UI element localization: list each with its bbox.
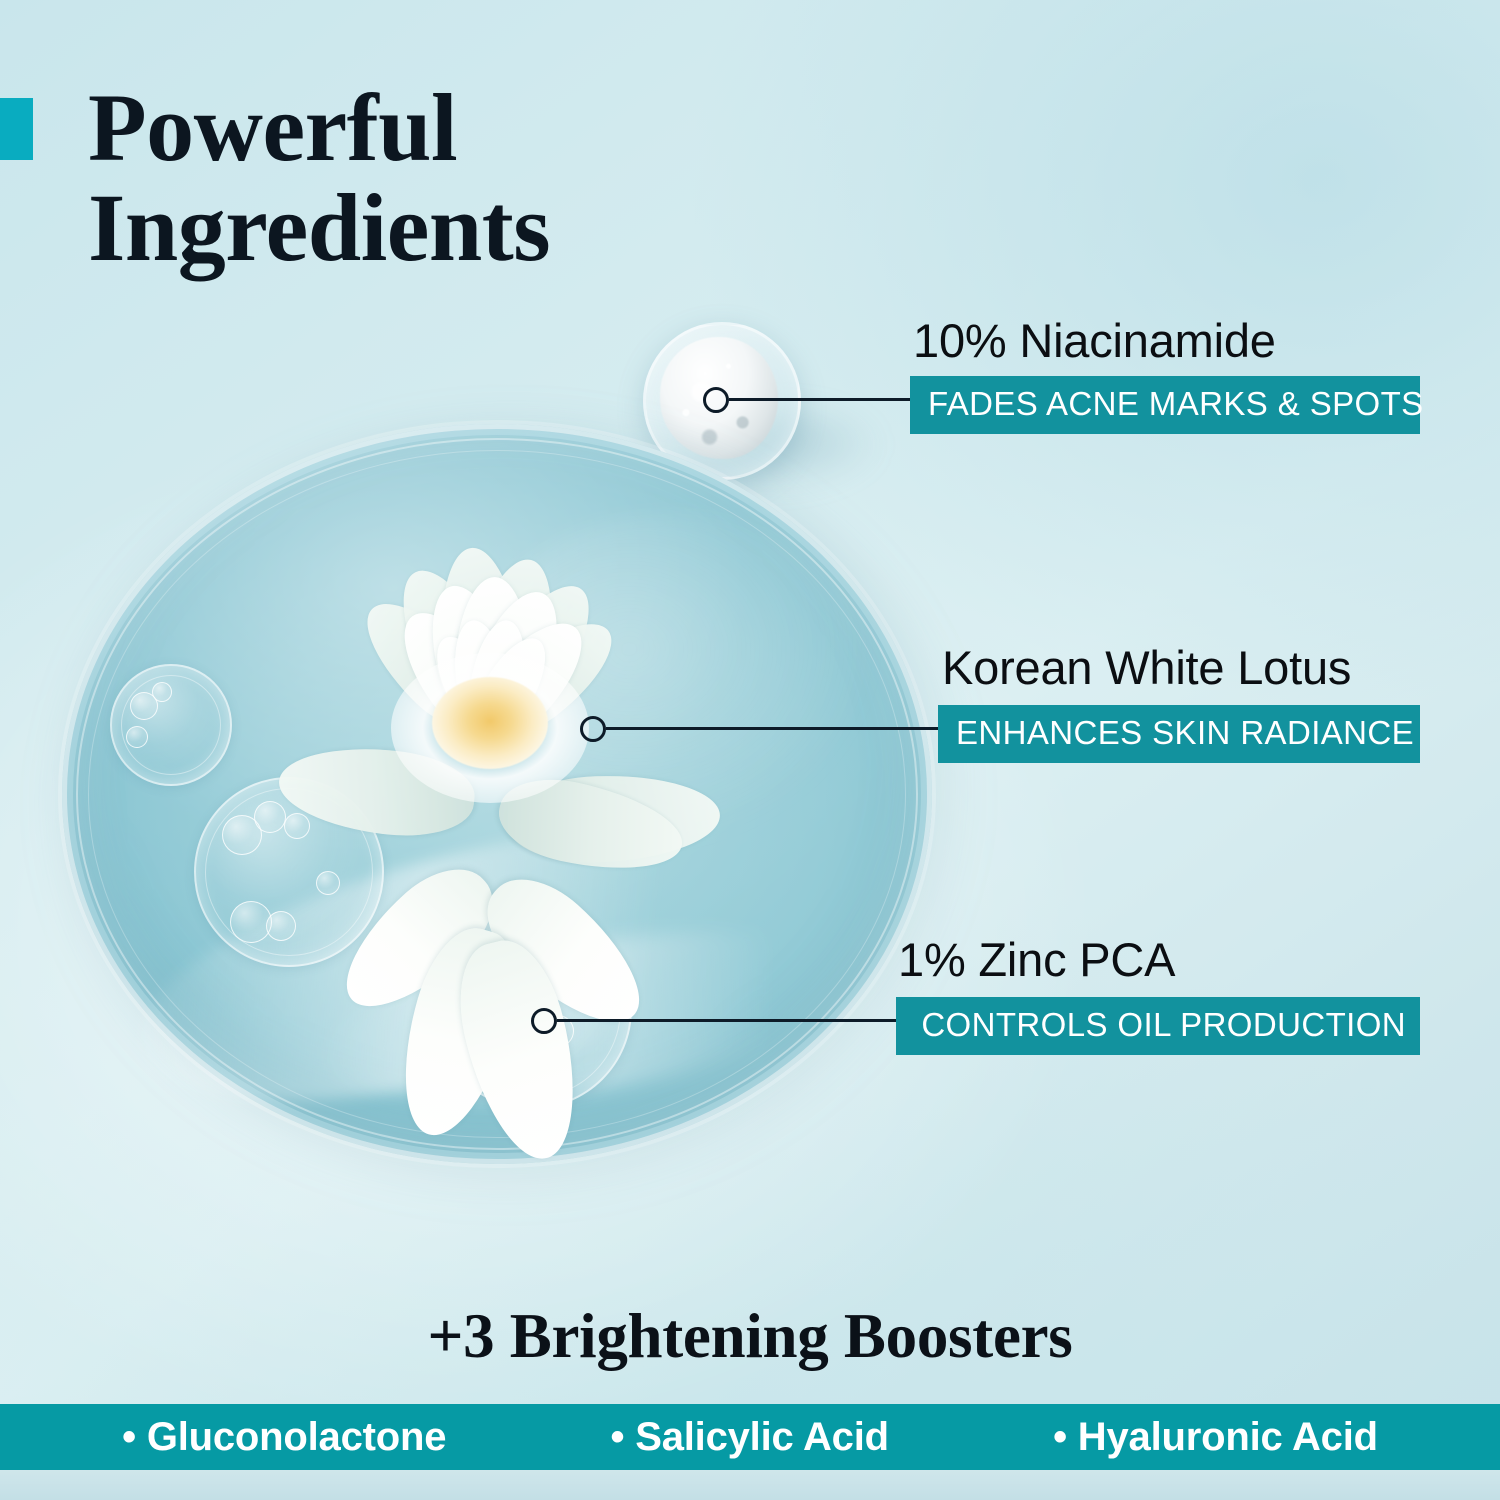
heading-accent-block <box>0 98 33 160</box>
callout-marker-zinc-pca[interactable] <box>531 1008 557 1034</box>
boosters-headline: +3 Brightening Boosters <box>0 1300 1500 1373</box>
callout-marker-niacinamide[interactable] <box>703 387 729 413</box>
callout-marker-korean-white-lotus[interactable] <box>580 716 606 742</box>
callout-line-korean-white-lotus <box>606 727 938 730</box>
callout-title-korean-white-lotus: Korean White Lotus <box>942 640 1351 695</box>
callout-title-zinc-pca: 1% Zinc PCA <box>898 932 1175 987</box>
callout-title-niacinamide: 10% Niacinamide <box>913 313 1276 368</box>
callout-benefit-niacinamide: FADES ACNE MARKS & SPOTS <box>910 376 1420 434</box>
booster-item-1: • Gluconolactone <box>122 1415 446 1460</box>
callout-line-niacinamide <box>729 398 911 401</box>
lotus-center <box>432 677 548 769</box>
page-title-line-1: Powerful <box>88 78 728 178</box>
booster-item-2: • Salicylic Acid <box>611 1415 889 1460</box>
page-title: Powerful Ingredients <box>88 78 728 278</box>
callout-benefit-zinc-pca: CONTROLS OIL PRODUCTION <box>896 997 1420 1055</box>
booster-item-3: • Hyaluronic Acid <box>1053 1415 1378 1460</box>
bottom-strip <box>0 1470 1500 1500</box>
callout-benefit-korean-white-lotus: ENHANCES SKIN RADIANCE <box>938 705 1420 763</box>
lotus-flower <box>255 505 725 925</box>
callout-line-zinc-pca <box>557 1019 900 1022</box>
boosters-bar: • Gluconolactone • Salicylic Acid • Hyal… <box>0 1404 1500 1470</box>
ingredients-infographic: Powerful Ingredients <box>0 0 1500 1500</box>
page-title-line-2: Ingredients <box>88 178 728 278</box>
